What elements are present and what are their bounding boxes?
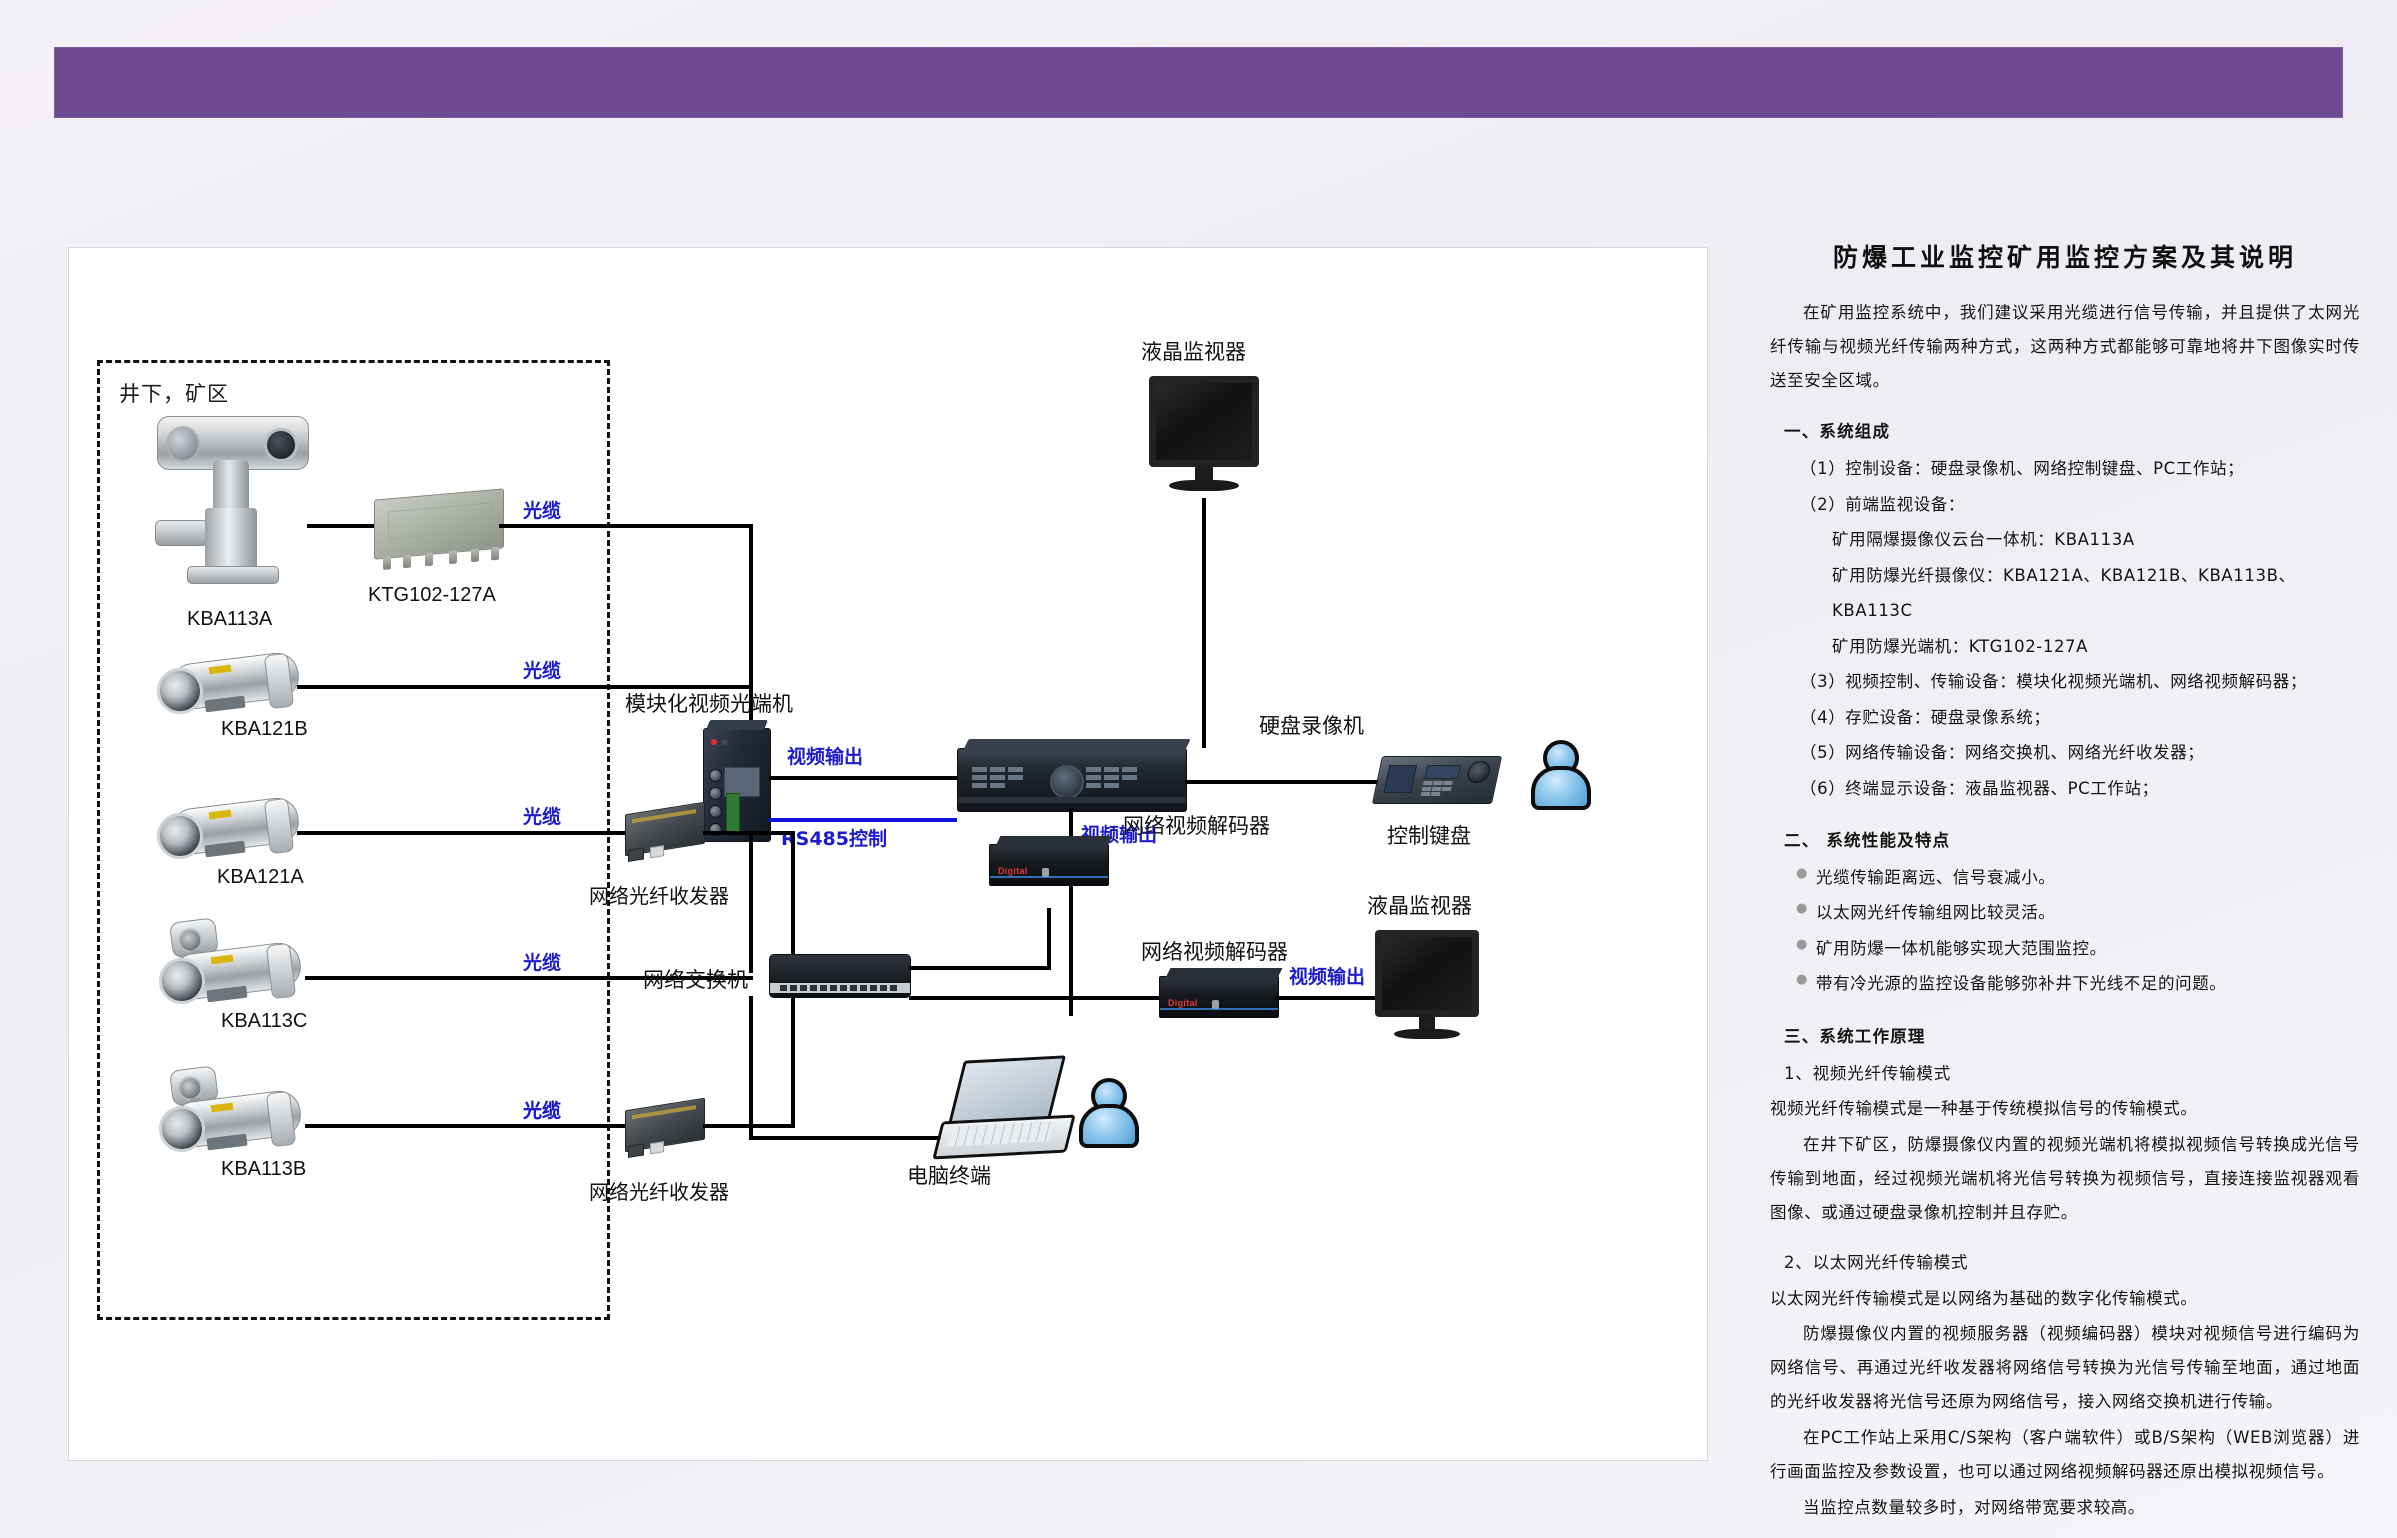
- video-output-label-1: 视频输出: [787, 742, 863, 769]
- dvr-front-strip-icon: [958, 797, 1186, 803]
- dvr-label: 硬盘录像机: [1259, 710, 1364, 740]
- converter-fiber-port-icon: [628, 847, 644, 862]
- media-converter-device-2: [625, 1098, 705, 1153]
- operator-avatar-bottom: [1079, 1078, 1131, 1140]
- section1-item-2: （2）前端监视设备：: [1770, 487, 2360, 522]
- wire-switch-to-pc-horiz: [749, 1136, 945, 1140]
- fiber-label-1: 光缆: [523, 496, 561, 523]
- media-converter-label-1: 网络光纤收发器: [589, 880, 729, 909]
- media-converter-label-2: 网络光纤收发器: [589, 1176, 729, 1205]
- document-title: 防爆工业监控矿用监控方案及其说明: [1770, 238, 2360, 274]
- dvr-top-face-icon: [963, 739, 1190, 750]
- camera-kba113c-label: KBA113C: [221, 1010, 307, 1033]
- optical-terminal-bnc-icon: [709, 787, 722, 800]
- mode1-paragraph-1: 视频光纤传输模式是一种基于传统模拟信号的传输模式。: [1770, 1092, 2360, 1126]
- section1-item-5: （5）网络传输设备：网络交换机、网络光纤收发器；: [1770, 735, 2360, 770]
- section3-heading: 三、系统工作原理: [1770, 1018, 2360, 1056]
- ptz-camera-arm-icon: [155, 520, 209, 546]
- monitor-neck-icon: [1419, 1014, 1436, 1030]
- mode2-paragraph-4: 当监控点数量较多时，对网络带宽要求较高。: [1770, 1491, 2360, 1525]
- mine-zone-label: 井下，矿区: [119, 378, 229, 408]
- decoder-device-2: Digital: [1159, 976, 1279, 1018]
- pc-terminal-device: [937, 1058, 1077, 1158]
- converter-band-icon: [632, 1105, 696, 1119]
- ptz-camera-column-icon: [205, 508, 257, 570]
- network-switch-device: [769, 954, 911, 998]
- wire-monitor-to-dvr: [1202, 498, 1206, 748]
- optical-terminal-label: 模块化视频光端机: [625, 688, 793, 718]
- section-spacer: [1770, 1231, 2360, 1245]
- section2-bullet-1: 光缆传输距离远、信号衰减小。: [1770, 860, 2360, 895]
- keyboard-display-icon: [1383, 765, 1417, 793]
- ptz-camera-device: [147, 416, 322, 591]
- user-body-icon: [1079, 1104, 1139, 1148]
- junction-box-lid-icon: [388, 502, 492, 540]
- wire-switch-to-decoder1: [909, 966, 1051, 970]
- mode1-paragraph-2: 在井下矿区，防爆摄像仪内置的视频光端机将模拟视频信号转换成光信号传输到地面，经过…: [1770, 1128, 2360, 1229]
- decoder-accent-line-icon: [1160, 1008, 1278, 1010]
- section1-subitem-3: 矿用防爆光端机：KTG102-127A: [1770, 629, 2360, 664]
- user-body-icon: [1531, 766, 1591, 810]
- camera-kba121a-device: [149, 793, 314, 873]
- section2-bullet-4: 带有冷光源的监控设备能够弥补井下光线不足的问题。: [1770, 966, 2360, 1001]
- media-converter-device-1: [625, 802, 705, 857]
- wire-decoder1-up: [1047, 908, 1051, 966]
- switch-ports-icon: [780, 985, 897, 991]
- mode2-paragraph-2: 防爆摄像仪内置的视频服务器（视频编码器）模块对视频信号进行编码为网络信号、再通过…: [1770, 1317, 2360, 1418]
- camera-kba121b-label: KBA121B: [221, 718, 308, 741]
- wire-converter1-down: [791, 831, 795, 973]
- control-keyboard-label: 控制键盘: [1387, 820, 1471, 850]
- dvr-device: [957, 748, 1187, 812]
- lcd-monitor-bottom-label: 液晶监视器: [1367, 890, 1472, 920]
- section1-item-4: （4）存贮设备：硬盘录像系统；: [1770, 700, 2360, 735]
- optical-terminal-green-block-icon: [726, 793, 740, 835]
- decoder-button-icon: [1212, 1000, 1219, 1009]
- pc-terminal-label: 电脑终端: [907, 1160, 991, 1190]
- network-topology-diagram: 井下，矿区 KBA113A KTG102-127A 光缆: [69, 248, 1707, 1460]
- rs485-control-label: RS485控制: [781, 824, 887, 851]
- fiber-label-6: 光缆: [523, 1096, 561, 1123]
- lcd-monitor-top-device: [1149, 376, 1259, 496]
- top-purple-band: [54, 47, 2343, 118]
- optical-terminal-bnc-icon: [709, 769, 722, 782]
- monitor-screen-icon: [1375, 930, 1479, 1017]
- dvr-right-buttons-icon: [1086, 767, 1140, 788]
- camera-kba113b-label: KBA113B: [221, 1158, 306, 1181]
- monitor-base-icon: [1169, 480, 1239, 491]
- wire-switch-to-decoder2: [909, 996, 1159, 1000]
- wire-converter2-up: [791, 996, 795, 1126]
- ptz-camera-base-icon: [187, 566, 279, 584]
- section2-bullet-3: 矿用防爆一体机能够实现大范围监控。: [1770, 931, 2360, 966]
- junction-box-device: [374, 488, 504, 559]
- wire-video-output-to-dvr: [769, 776, 957, 780]
- fiber-label-4: 光缆: [523, 948, 561, 975]
- wire-rs485-control: [769, 818, 957, 822]
- diagram-panel: 井下，矿区 KBA113A KTG102-127A 光缆: [68, 247, 1708, 1461]
- monitor-screen-icon: [1149, 376, 1259, 467]
- section1-subitem-1: 矿用隔爆摄像仪云台一体机：KBA113A: [1770, 522, 2360, 557]
- section2-bullet-2: 以太网光纤传输组网比较灵活。: [1770, 895, 2360, 930]
- dvr-jog-dial-icon: [1050, 765, 1084, 799]
- keyboard-joystick-icon: [1465, 761, 1492, 783]
- keyboard-secondary-display-icon: [1424, 765, 1461, 779]
- converter-rj45-port-icon: [650, 1141, 664, 1154]
- wire-junction-to-bus-1: [499, 524, 753, 528]
- fiber-label-3: 光缆: [523, 802, 561, 829]
- mode2-paragraph-1: 以太网光纤传输模式是以网络为基础的数字化传输模式。: [1770, 1282, 2360, 1316]
- decoder-brand-icon: Digital: [998, 866, 1028, 876]
- wire-dvr-to-keyboard: [1185, 780, 1381, 784]
- section1-item-6: （6）终端显示设备：液晶监视器、PC工作站；: [1770, 771, 2360, 806]
- optical-terminal-status-led-icon: [722, 739, 728, 745]
- decoder-top-face-icon: [1166, 968, 1283, 978]
- decoder-device-1: Digital: [989, 844, 1109, 886]
- intro-paragraph: 在矿用监控系统中，我们建议采用光缆进行信号传输，并且提供了太网光纤传输与视频光纤…: [1770, 296, 2360, 397]
- description-column: 防爆工业监控矿用监控方案及其说明 在矿用监控系统中，我们建议采用光缆进行信号传输…: [1770, 238, 2360, 1526]
- network-switch-label: 网络交换机: [643, 964, 748, 994]
- optical-terminal-power-led-icon: [711, 739, 717, 745]
- decoder-button-icon: [1042, 868, 1049, 877]
- video-output-label-3: 视频输出: [1289, 962, 1365, 989]
- wire-decoder2-to-monitor: [1275, 996, 1379, 1000]
- optical-terminal-top-icon: [706, 720, 768, 730]
- section1-subitem-2: 矿用防爆光纤摄像仪：KBA121A、KBA121B、KBA113B、KBA113…: [1770, 558, 2360, 629]
- dvr-left-buttons-icon: [972, 767, 1026, 788]
- operator-avatar-top: [1531, 740, 1583, 802]
- decoder-accent-line-icon: [990, 876, 1108, 878]
- mode2-title: 2、以太网光纤传输模式: [1770, 1245, 2360, 1281]
- wire-bus-to-switch: [749, 831, 753, 973]
- section1-heading: 一、系统组成: [1770, 413, 2360, 451]
- section2-heading: 二、 系统性能及特点: [1770, 822, 2360, 860]
- decoder-label-1: 网络视频解码器: [1123, 810, 1270, 840]
- keyboard-keys-icon: [1420, 781, 1457, 797]
- monitor-neck-icon: [1195, 465, 1213, 482]
- section1-item-1: （1）控制设备：硬盘录像机、网络控制键盘、PC工作站；: [1770, 451, 2360, 486]
- wire-ptz-to-junction: [307, 524, 377, 528]
- lcd-monitor-bottom-device: [1375, 930, 1479, 1044]
- mode1-title: 1、视频光纤传输模式: [1770, 1056, 2360, 1092]
- camera-kba121b-device: [149, 648, 314, 728]
- mode2-paragraph-3: 在PC工作站上采用C/S架构（客户端软件）或B/S架构（WEB浏览器）进行画面监…: [1770, 1421, 2360, 1489]
- converter-fiber-port-icon: [628, 1143, 644, 1158]
- control-keyboard-device: [1372, 756, 1502, 804]
- wire-switch-to-pc-vert: [749, 996, 753, 1140]
- converter-band-icon: [632, 809, 696, 823]
- section1-item-3: （3）视频控制、传输设备：模块化视频光端机、网络视频解码器；: [1770, 664, 2360, 699]
- converter-rj45-port-icon: [650, 845, 664, 858]
- decoder-label-2: 网络视频解码器: [1141, 936, 1288, 966]
- lcd-monitor-top-label: 液晶监视器: [1141, 336, 1246, 366]
- fiber-label-2: 光缆: [523, 656, 561, 683]
- monitor-base-icon: [1394, 1029, 1461, 1039]
- modular-video-optical-terminal-device: [703, 728, 771, 842]
- decoder-brand-icon: Digital: [1168, 998, 1198, 1008]
- decoder-top-face-icon: [996, 836, 1113, 846]
- optical-terminal-bnc-icon: [709, 805, 722, 818]
- camera-kba121a-label: KBA121A: [217, 866, 304, 889]
- bus-vertical-top: [749, 524, 753, 689]
- junction-box-label: KTG102-127A: [368, 584, 496, 607]
- ptz-camera-label: KBA113A: [187, 608, 272, 631]
